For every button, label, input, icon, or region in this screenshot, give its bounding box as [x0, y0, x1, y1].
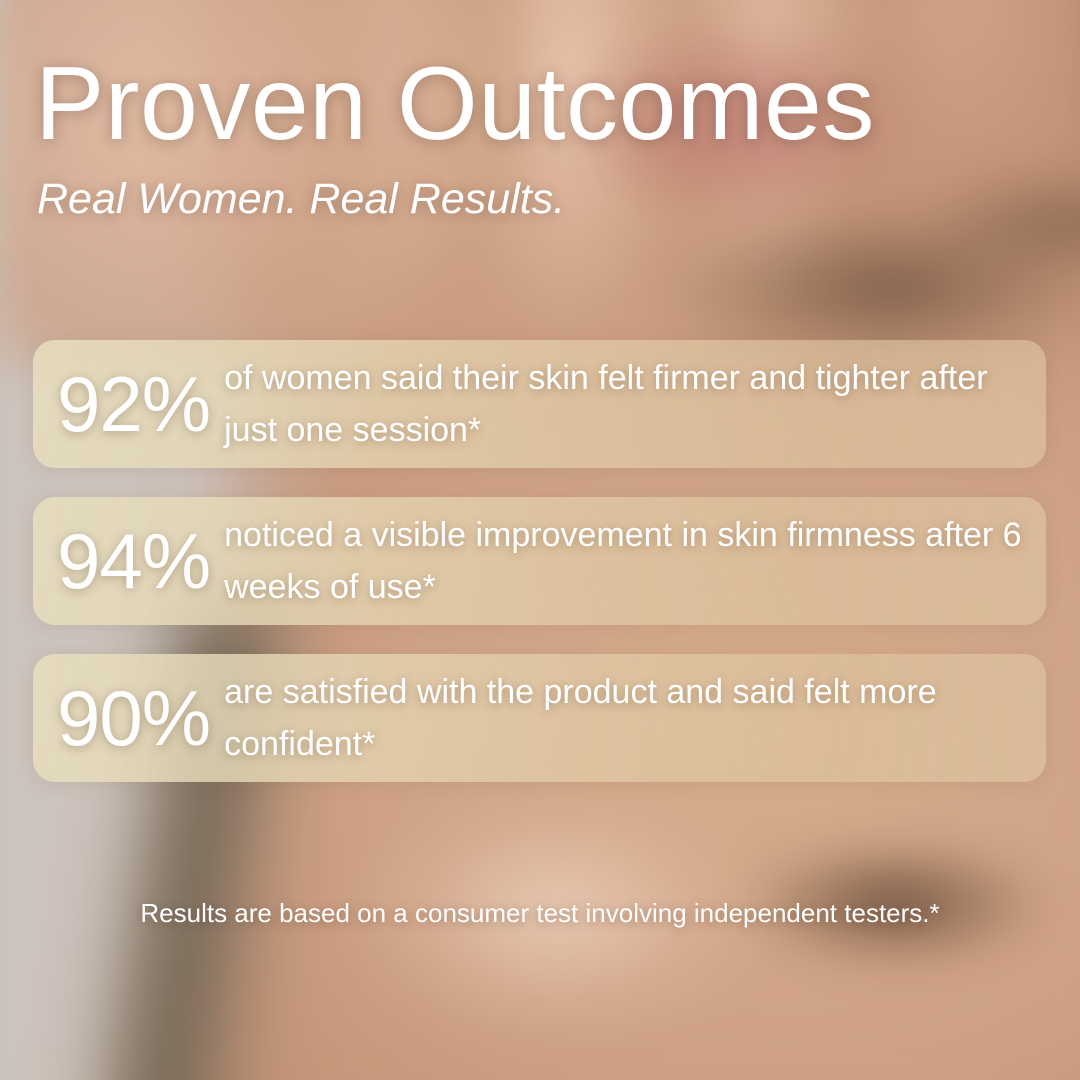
header: Proven Outcomes Real Women. Real Results… — [35, 52, 1040, 221]
stat-description: noticed a visible improvement in skin fi… — [224, 509, 1046, 613]
stat-percent: 94% — [33, 522, 224, 600]
footnote: Results are based on a consumer test inv… — [0, 898, 1080, 929]
page-subtitle: Real Women. Real Results. — [37, 178, 1040, 221]
stat-percent: 90% — [33, 679, 224, 757]
stats-list: 92% of women said their skin felt firmer… — [33, 340, 1046, 782]
poster: Proven Outcomes Real Women. Real Results… — [0, 0, 1080, 1080]
stat-description: of women said their skin felt firmer and… — [224, 352, 1046, 456]
stat-card: 90% are satisfied with the product and s… — [33, 654, 1046, 782]
content-container: Proven Outcomes Real Women. Real Results… — [0, 0, 1080, 1080]
stat-description: are satisfied with the product and said … — [224, 666, 1046, 770]
page-title: Proven Outcomes — [35, 52, 1040, 156]
stat-percent: 92% — [33, 365, 224, 443]
stat-card: 92% of women said their skin felt firmer… — [33, 340, 1046, 468]
stat-card: 94% noticed a visible improvement in ski… — [33, 497, 1046, 625]
